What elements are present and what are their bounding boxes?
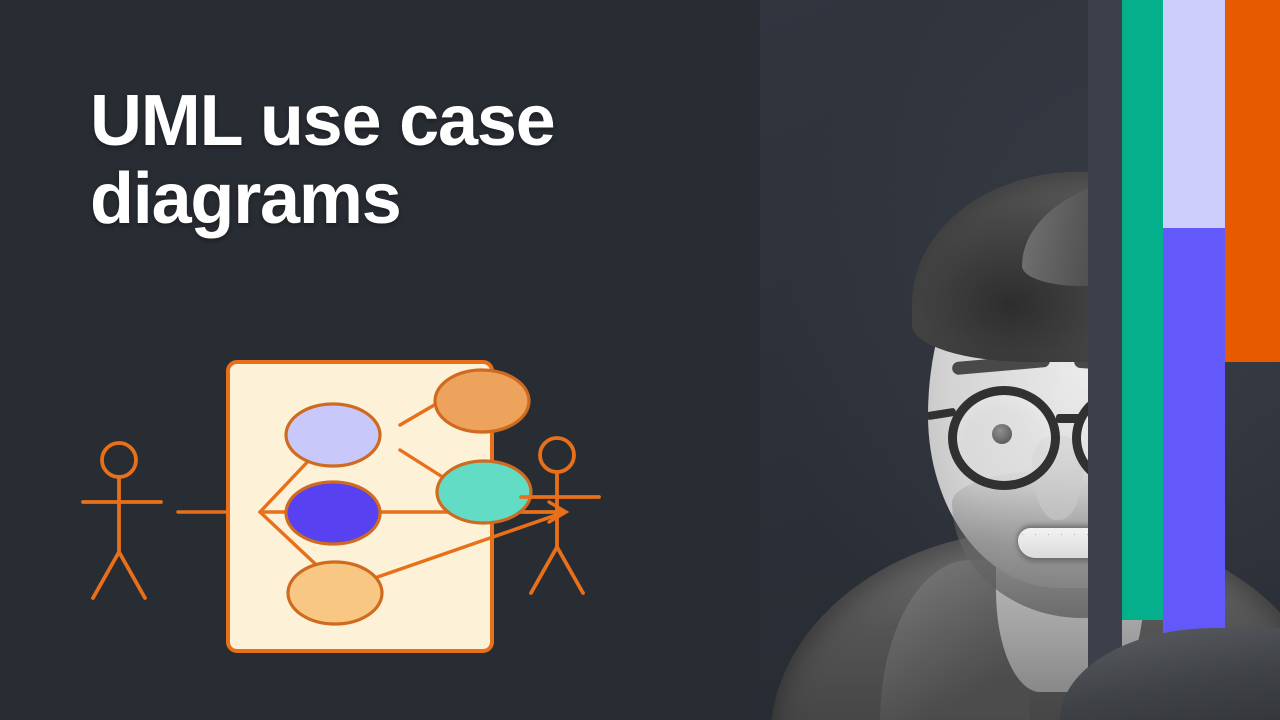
actor-left [83, 443, 161, 598]
glasses-bridge [1056, 414, 1082, 423]
color-bar-dark-band [1088, 0, 1122, 720]
uml-use-case-diagram [70, 340, 630, 680]
actor-leg-left [93, 552, 119, 598]
page-title: UML use case diagrams [90, 82, 730, 239]
use-case-turquoise [437, 461, 531, 523]
actor-leg-right [119, 552, 145, 598]
use-case-orange [435, 370, 529, 432]
use-case-blue-violet [286, 482, 380, 544]
color-bar-teal [1122, 0, 1163, 620]
use-case-light-orange [288, 562, 382, 624]
glasses-lens-left [948, 386, 1060, 490]
actor-leg-right [557, 547, 583, 593]
actor-head [540, 438, 574, 472]
actor-head [102, 443, 136, 477]
use-case-lavender [286, 404, 380, 466]
actor-leg-left [531, 547, 557, 593]
color-bar-lavender [1163, 0, 1225, 228]
color-bar-violet [1163, 228, 1225, 672]
color-bar-orange [1225, 0, 1280, 362]
thumbnail-canvas: UML use case diagrams [0, 0, 1280, 720]
